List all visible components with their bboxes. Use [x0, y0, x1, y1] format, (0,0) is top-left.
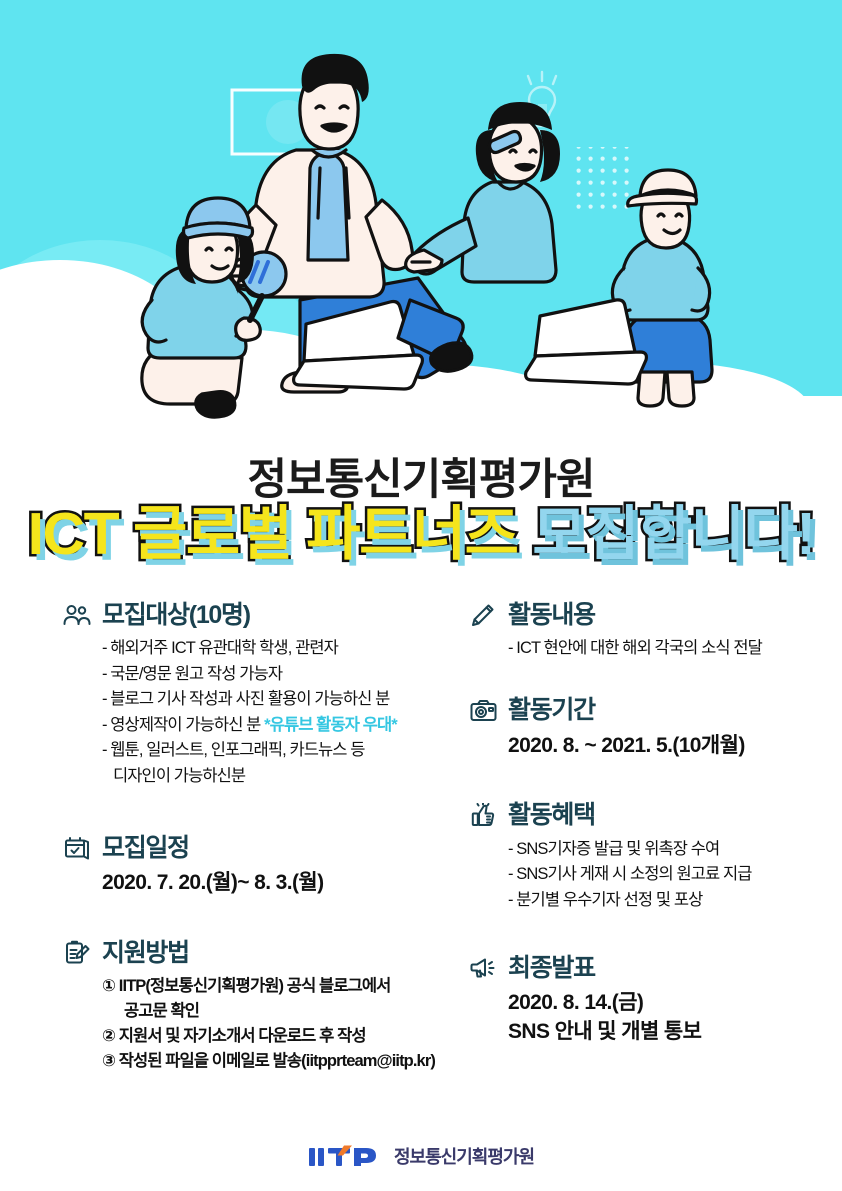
section-recruit-target: 모집대상(10명) - 해외거주 ICT 유관대학 학생, 관련자 - 국문/영… [62, 600, 462, 789]
bullet-text: - 영상제작이 가능하신 분 [102, 716, 264, 734]
spacer [468, 765, 838, 801]
section-recruit-schedule: 모집일정 2020. 7. 20.(월)~ 8. 3.(월) [62, 833, 462, 898]
bullet-item: - SNS기사 게재 시 소정의 원고료 지급 [508, 862, 838, 888]
spacer [468, 666, 838, 696]
calendar-check-icon [62, 833, 92, 863]
title-block: 정보통신기획평가원 ICT 글로벌 파트너즈 모집합니다! [0, 452, 842, 564]
section-body: ① IITP(정보통신기획평가원) 공식 블로그에서 공고문 확인 ② 지원서 … [62, 974, 462, 1073]
bullet-item-video: - 영상제작이 가능하신 분 *유튜브 활동자 우대* [102, 713, 462, 739]
dot-grid-decoration [575, 147, 631, 209]
section-title: 지원방법 [102, 941, 189, 966]
date-value: 2020. 7. 20.(월)~ 8. 3.(월) [102, 869, 462, 898]
pencil-icon [468, 600, 498, 630]
section-body: 2020. 7. 20.(월)~ 8. 3.(월) [62, 869, 462, 898]
left-column: 모집대상(10명) - 해외거주 ICT 유관대학 학생, 관련자 - 국문/영… [62, 600, 462, 1077]
section-header: 최종발표 [468, 953, 838, 983]
numbered-item: ① IITP(정보통신기획평가원) 공식 블로그에서 [102, 974, 462, 999]
footer: 정보통신기획평가원 [0, 1143, 842, 1169]
poster-root: 정보통신기획평가원 ICT 글로벌 파트너즈 모집합니다! 모집대상(10명) [0, 0, 842, 1191]
bullet-item: - 해외거주 ICT 유관대학 학생, 관련자 [102, 636, 462, 662]
content-area: 모집대상(10명) - 해외거주 ICT 유관대학 학생, 관련자 - 국문/영… [0, 600, 842, 1120]
footer-org-name: 정보통신기획평가원 [394, 1143, 534, 1169]
section-header: 모집일정 [62, 833, 462, 863]
megaphone-icon [468, 953, 498, 983]
announcement-method: SNS 안내 및 개별 통보 [508, 1018, 838, 1047]
section-title: 활동혜택 [508, 803, 595, 828]
section-header: 활동기간 [468, 696, 838, 726]
people-group-icon [62, 600, 92, 630]
section-activity-content: 활동내용 - ICT 현안에 대한 해외 각국의 소식 전달 [468, 600, 838, 662]
date-value: 2020. 8. ~ 2021. 5.(10개월) [508, 732, 838, 761]
bullet-item: - 웹툰, 일러스트, 인포그래픽, 카드뉴스 등 [102, 738, 462, 764]
youtube-preference-note: *유튜브 활동자 우대* [264, 716, 397, 734]
section-body: - SNS기자증 발급 및 위촉장 수여 - SNS기사 게재 시 소정의 원고… [468, 837, 838, 914]
section-header: 활동혜택 [468, 801, 838, 831]
section-body: 2020. 8. 14.(금) SNS 안내 및 개별 통보 [468, 989, 838, 1047]
section-body: - 해외거주 ICT 유관대학 학생, 관련자 - 국문/영문 원고 작성 가능… [62, 636, 462, 789]
main-title-part2: 모집합니다! [532, 501, 814, 567]
date-value: 2020. 8. 14.(금) [508, 989, 838, 1018]
section-body: 2020. 8. ~ 2021. 5.(10개월) [468, 732, 838, 761]
section-header: 활동내용 [468, 600, 838, 630]
section-header: 모집대상(10명) [62, 600, 462, 630]
section-final-announcement: 최종발표 2020. 8. 14.(금) SNS 안내 및 개별 통보 [468, 953, 838, 1047]
main-title: ICT 글로벌 파트너즈 모집합니다! [0, 505, 842, 564]
clipboard-pen-icon [62, 938, 92, 968]
spacer [62, 793, 462, 833]
section-activity-benefits: 활동혜택 - SNS기자증 발급 및 위촉장 수여 - SNS기사 게재 시 소… [468, 801, 838, 914]
organization-name: 정보통신기획평가원 [0, 452, 842, 503]
bullet-item: - 국문/영문 원고 작성 가능자 [102, 662, 462, 688]
bullet-item: - SNS기자증 발급 및 위촉장 수여 [508, 837, 838, 863]
camera-icon [468, 696, 498, 726]
numbered-item-email: ③ 작성된 파일을 이메일로 발송(iitpprteam@iitp.kr) [102, 1049, 462, 1074]
section-title: 최종발표 [508, 956, 595, 981]
section-body: - ICT 현안에 대한 해외 각국의 소식 전달 [468, 636, 838, 662]
bullet-item: - 블로그 기사 작성과 사진 활용이 가능하신 분 [102, 687, 462, 713]
spacer [62, 902, 462, 938]
section-title: 모집대상(10명) [102, 603, 250, 628]
section-header: 지원방법 [62, 938, 462, 968]
section-activity-period: 활동기간 2020. 8. ~ 2021. 5.(10개월) [468, 696, 838, 761]
section-title: 활동내용 [508, 603, 595, 628]
section-how-to-apply: 지원방법 ① IITP(정보통신기획평가원) 공식 블로그에서 공고문 확인 ②… [62, 938, 462, 1073]
bullet-item: - ICT 현안에 대한 해외 각국의 소식 전달 [508, 636, 838, 662]
right-column: 활동내용 - ICT 현안에 대한 해외 각국의 소식 전달 [468, 600, 838, 1051]
numbered-item-continued: 공고문 확인 [102, 999, 462, 1024]
main-title-part1: ICT 글로벌 파트너즈 [28, 501, 533, 567]
thumbs-up-icon [468, 801, 498, 831]
bullet-item-continued: 디자인이 가능하신분 [102, 764, 462, 790]
bullet-item: - 분기별 우수기자 선정 및 포상 [508, 888, 838, 914]
section-title: 모집일정 [102, 836, 189, 861]
spacer [468, 917, 838, 953]
section-title: 활동기간 [508, 698, 595, 723]
iitp-logo-icon [308, 1143, 380, 1169]
numbered-item: ② 지원서 및 자기소개서 다운로드 후 작성 [102, 1024, 462, 1049]
hero-illustration [0, 0, 842, 452]
